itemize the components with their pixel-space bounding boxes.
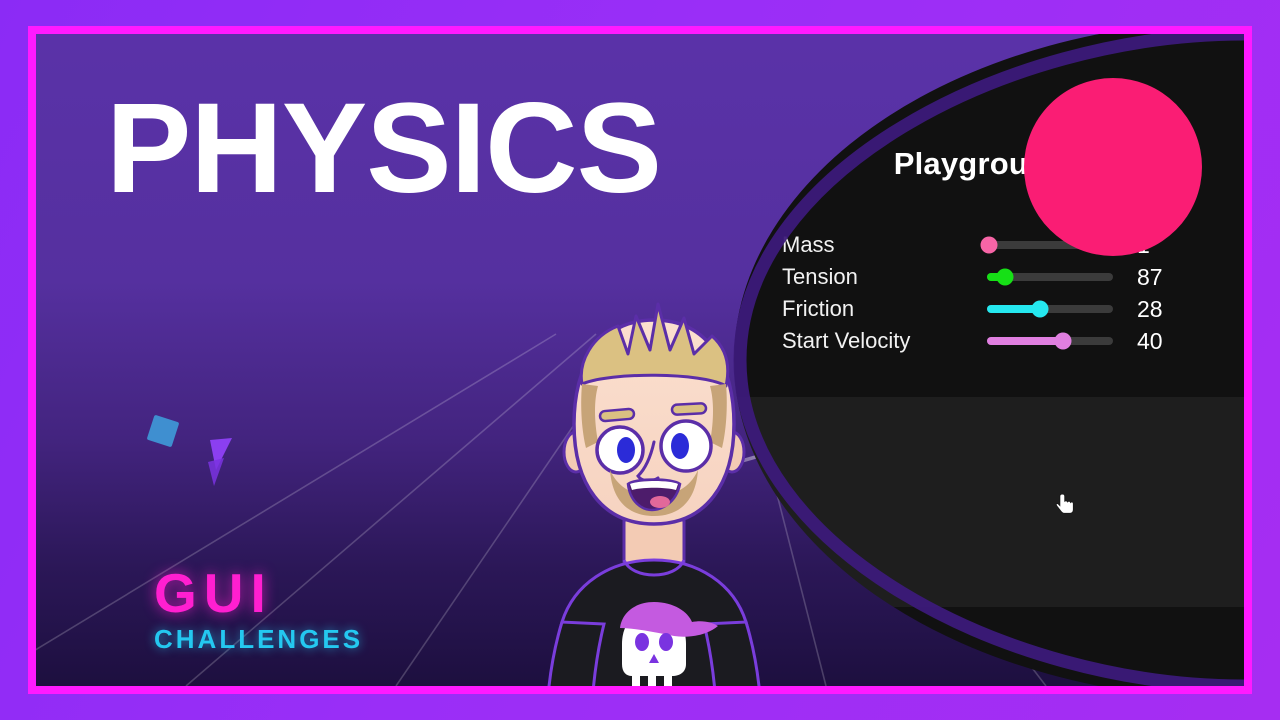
slide-stage: PHYSICS GUI CHALLENGES — [0, 0, 1280, 720]
gui-challenges-logo: GUI CHALLENGES — [154, 566, 363, 652]
control-label-mass: Mass — [782, 232, 987, 258]
control-label-tension: Tension — [782, 264, 987, 290]
neon-border-frame: PHYSICS GUI CHALLENGES — [28, 26, 1252, 694]
control-label-friction: Friction — [782, 296, 987, 322]
slider-thumb[interactable] — [981, 237, 998, 254]
slider-fill — [987, 337, 1063, 345]
slider-start-velocity[interactable] — [987, 325, 1113, 357]
control-value-start-velocity: 40 — [1137, 328, 1181, 355]
slider-tension[interactable] — [987, 261, 1113, 293]
control-row-tension[interactable]: Tension 87 — [782, 261, 1202, 293]
control-label-start-velocity: Start Velocity — [782, 328, 987, 354]
control-row-friction[interactable]: Friction 28 — [782, 293, 1202, 325]
slider-friction[interactable] — [987, 293, 1113, 325]
physics-ball[interactable] — [1024, 78, 1202, 256]
slider-thumb[interactable] — [1055, 333, 1072, 350]
control-value-tension: 87 — [1137, 264, 1181, 291]
logo-challenges-text: CHALLENGES — [154, 626, 363, 652]
control-value-friction: 28 — [1137, 296, 1181, 323]
slider-thumb[interactable] — [997, 269, 1014, 286]
control-row-start-velocity[interactable]: Start Velocity 40 — [782, 325, 1202, 357]
slide-canvas: PHYSICS GUI CHALLENGES — [36, 34, 1244, 686]
page-title: PHYSICS — [106, 82, 661, 216]
logo-gui-text: GUI — [154, 566, 363, 621]
slider-thumb[interactable] — [1032, 301, 1049, 318]
